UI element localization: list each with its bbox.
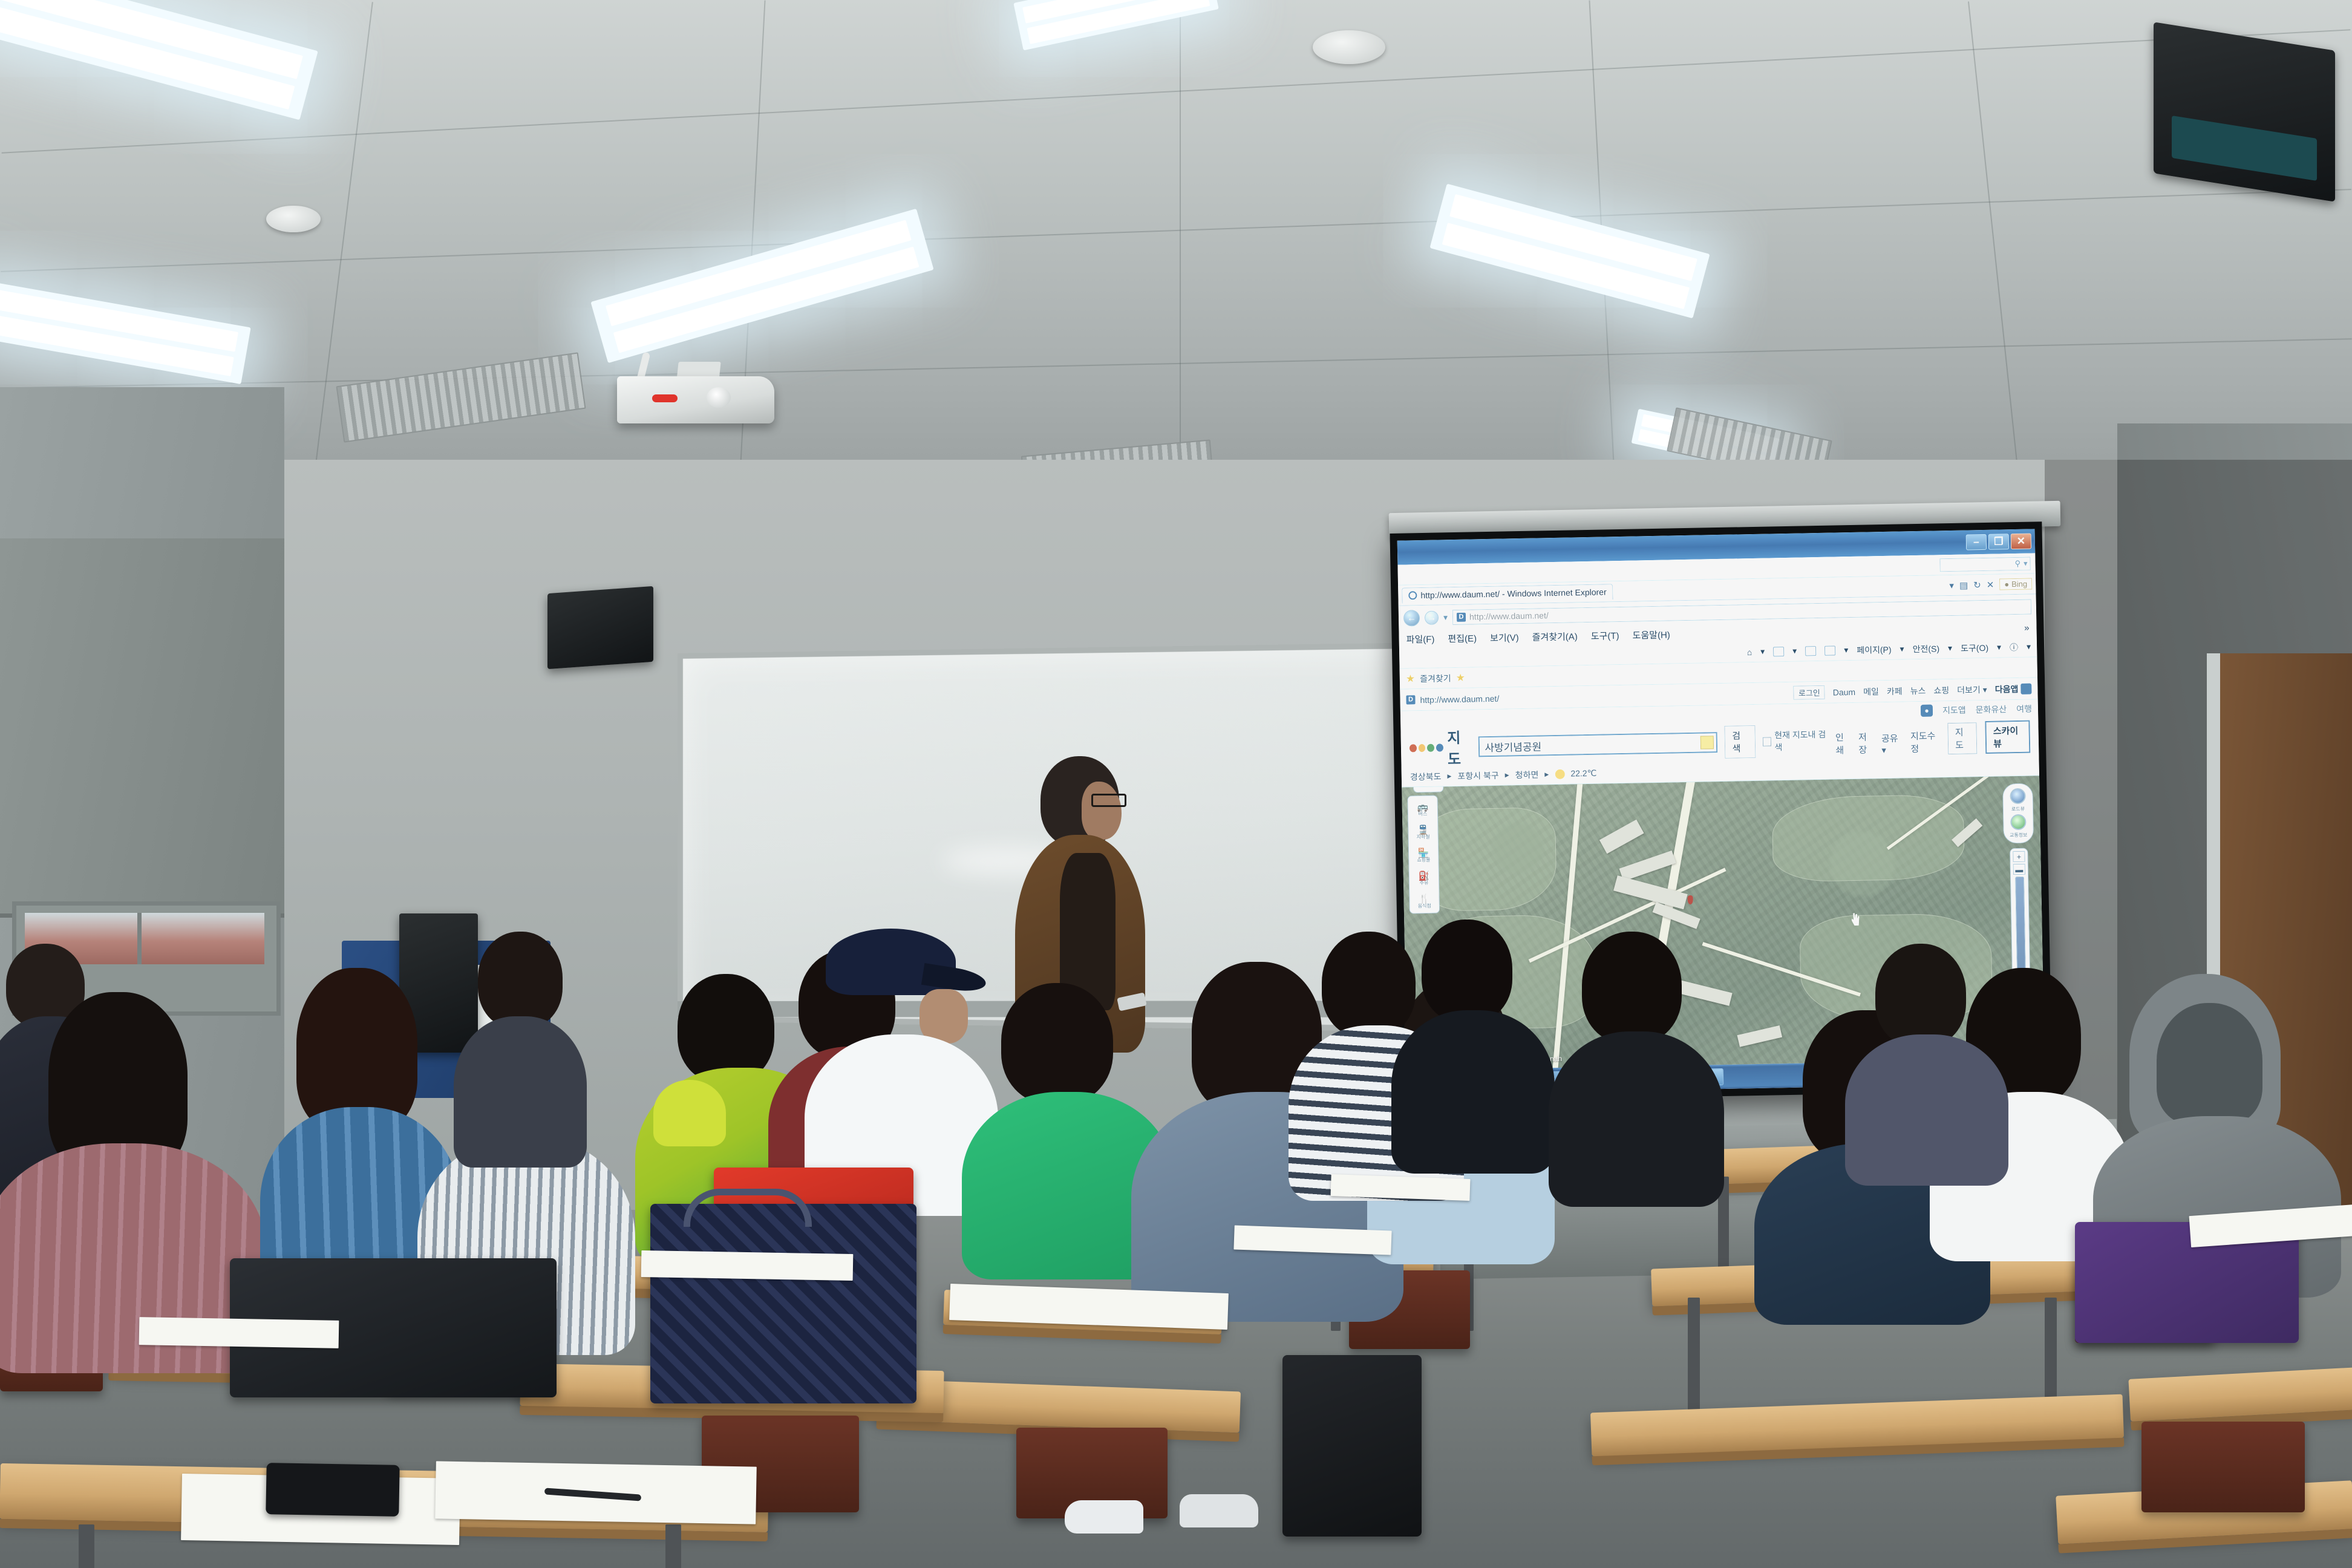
feeds-icon[interactable] [1773, 647, 1784, 656]
category-fuel[interactable]: ⛽ 주유 [1416, 869, 1433, 887]
map-view-tab[interactable]: 지도 [1948, 722, 1978, 754]
breadcrumb-city[interactable]: 포항시 북구 [1457, 769, 1499, 782]
daum-app-label: 다음앱 [1995, 682, 2019, 695]
roadview-icon [2010, 788, 2025, 804]
traffic-icon [2010, 814, 2026, 830]
browser-tab-label: http://www.daum.net/ - Windows Internet … [1420, 587, 1607, 600]
map-app-icon[interactable]: ● [1921, 705, 1933, 717]
classroom-scene: – ❐ ✕ ⚲ ▾ http://www.daum.net/ - Windows… [0, 0, 2352, 1568]
category-mart[interactable]: 🏪 쇼핑몰 [1415, 846, 1432, 864]
map-category-sidebar: 🚌 버스 🚆 지하철 🏪 쇼핑몰 ⛽ 주유 [1407, 795, 1440, 914]
student [1845, 944, 2002, 1174]
minimize-button[interactable]: – [1966, 534, 1987, 550]
search-in-view-checkbox[interactable]: 현재 지도내 검색 [1762, 728, 1828, 754]
student [448, 932, 587, 1161]
browser-tab[interactable]: http://www.daum.net/ - Windows Internet … [1402, 584, 1613, 603]
add-favorite-icon[interactable]: ★ [1455, 671, 1465, 684]
chevron-down-icon[interactable]: ▾ [1792, 646, 1797, 656]
qr-icon [2020, 683, 2031, 694]
bing-icon: ● [2004, 580, 2009, 589]
student [1391, 920, 1549, 1161]
menu-help[interactable]: 도움말(H) [1632, 628, 1670, 641]
feeds-icon[interactable]: ▤ [1959, 580, 1968, 590]
paper-sheet [641, 1250, 854, 1281]
shoe [1065, 1500, 1143, 1534]
daum-favicon-icon: D [1406, 695, 1415, 704]
map-search-value: 사방기념공원 [1485, 738, 1541, 754]
keyboard-icon[interactable] [1700, 736, 1713, 749]
pencil-pouch [266, 1463, 399, 1517]
tote-handle [684, 1189, 812, 1227]
close-button[interactable]: ✕ [2011, 534, 2031, 550]
menu-overflow-icon[interactable]: » [2024, 622, 2030, 633]
daum-map-logo[interactable]: 지도 [1409, 726, 1472, 769]
student [1549, 932, 1718, 1192]
category-train-label: 지하철 [1415, 834, 1432, 841]
print-icon[interactable] [1824, 645, 1835, 655]
cmd-page[interactable]: 페이지(P) [1857, 643, 1892, 656]
map-logo-label: 지도 [1447, 726, 1472, 769]
skyview-tab[interactable]: 스카이뷰 [1985, 720, 2030, 754]
bing-label: Bing [2011, 580, 2027, 589]
category-bus[interactable]: 🚌 버스 [1414, 800, 1432, 818]
mail-icon[interactable] [1805, 646, 1816, 656]
chevron-down-icon[interactable]: ▾ [1997, 642, 2001, 652]
address-url: http://www.daum.net/ [1469, 610, 1549, 621]
breadcrumb-province[interactable]: 경상북도 [1410, 770, 1442, 783]
nav-cafe[interactable]: 카페 [1887, 685, 1903, 697]
glasses-icon [1091, 794, 1126, 807]
menu-tools[interactable]: 도구(T) [1591, 629, 1619, 642]
search-icon: ⚲ [2014, 558, 2020, 568]
map-search-button[interactable]: 검색 [1724, 725, 1756, 759]
category-mart-label: 쇼핑몰 [1415, 857, 1432, 864]
checkbox-icon[interactable] [1762, 737, 1771, 746]
chevron-down-icon[interactable]: ▾ [2024, 558, 2028, 568]
nav-daum[interactable]: Daum [1833, 687, 1856, 697]
nav-news[interactable]: 뉴스 [1910, 684, 1926, 696]
help-icon[interactable]: ⓘ [2010, 641, 2018, 653]
sub-mapapp[interactable]: 지도앱 [1942, 704, 1966, 717]
sun-weather-icon [1555, 769, 1564, 779]
map-share-button[interactable]: 공유 ▾ [1881, 732, 1903, 756]
roadview-control[interactable]: 로드뷰 교통정보 [2002, 783, 2034, 844]
nav-shopping[interactable]: 쇼핑 [1933, 684, 1949, 696]
favorites-star-icon[interactable]: ★ [1406, 673, 1416, 685]
shoe [1180, 1494, 1258, 1527]
chevron-down-icon[interactable]: ▾ [1948, 643, 1952, 653]
category-restaurant-label: 음식점 [1416, 903, 1433, 910]
menu-view[interactable]: 보기(V) [1490, 631, 1519, 644]
ceiling-projector [605, 363, 786, 436]
black-bag [1282, 1355, 1422, 1537]
stop-icon[interactable]: ✕ [1987, 579, 1994, 590]
restore-button[interactable]: ❐ [1988, 534, 2009, 550]
map-search-input[interactable]: 사방기념공원 [1478, 732, 1717, 757]
map-save-button[interactable]: 저장 [1858, 730, 1873, 756]
cmd-safety[interactable]: 안전(S) [1912, 642, 1939, 655]
patterned-tote-bag [650, 1204, 916, 1403]
nav-more[interactable]: 더보기 ▾ [1957, 683, 1987, 696]
paper-sheet [139, 1317, 339, 1348]
cmd-tools[interactable]: 도구(O) [1961, 641, 1988, 654]
map-building [1619, 851, 1676, 881]
roadview-label: 로드뷰 [2011, 806, 2025, 812]
chevron-down-icon[interactable]: ▾ [1443, 612, 1448, 622]
nav-mail[interactable]: 메일 [1863, 685, 1879, 697]
category-train[interactable]: 🚆 지하철 [1414, 823, 1432, 841]
temperature-label: 22.2℃ [1570, 768, 1596, 779]
map-location-marker[interactable] [1688, 895, 1693, 904]
category-restaurant[interactable]: 🍴 음식점 [1416, 892, 1433, 910]
chevron-down-icon[interactable]: ▾ [1760, 647, 1765, 657]
sub-heritage[interactable]: 문화유산 [1975, 703, 2007, 716]
refresh-icon[interactable]: ↻ [1973, 580, 1981, 590]
ie-favicon-icon [1408, 591, 1417, 599]
zoom-in-button[interactable]: + [2013, 851, 2025, 862]
chevron-right-icon: ▸ [1544, 769, 1549, 779]
back-button[interactable]: ← [1403, 610, 1420, 626]
window-roller-blind[interactable] [0, 538, 284, 918]
login-button[interactable]: 로그인 [1794, 685, 1825, 700]
map-print-button[interactable]: 인쇄 [1835, 731, 1851, 756]
home-icon[interactable]: ⌂ [1747, 647, 1753, 657]
bing-search-box[interactable]: ● Bing [1999, 578, 2032, 590]
search-in-view-label: 현재 지도내 검색 [1774, 728, 1828, 754]
traffic-label: 교통정보 [2010, 832, 2028, 839]
breadcrumb-town[interactable]: 청하면 [1515, 768, 1539, 781]
zoom-handle[interactable]: ▬ [2013, 864, 2025, 875]
chevron-right-icon: ▸ [1505, 769, 1509, 780]
corner-speaker-right [2154, 22, 2335, 202]
favorites-label[interactable]: 즐겨찾기 [1420, 672, 1451, 685]
menu-edit[interactable]: 편집(E) [1448, 632, 1477, 645]
forward-button[interactable]: → [1425, 610, 1439, 624]
chevron-down-icon[interactable]: ▾ [1949, 580, 1954, 590]
chevron-down-icon[interactable]: ▾ [1900, 644, 1904, 654]
ie-search-input[interactable]: ⚲ ▾ [1939, 557, 2030, 572]
daum-favicon-icon: D [1457, 612, 1466, 621]
map-building [1599, 820, 1644, 854]
chair [2141, 1422, 2305, 1512]
plaid-pink-shirt-student [0, 992, 254, 1355]
sub-travel[interactable]: 여행 [2016, 703, 2032, 715]
daum-url-label: http://www.daum.net/ [1420, 693, 1499, 704]
map-edit-button[interactable]: 지도수정 [1910, 729, 1940, 755]
smoke-detector-icon [1313, 30, 1385, 64]
chevron-down-icon[interactable]: ▾ [1844, 645, 1848, 655]
menu-favorites[interactable]: 즐겨찾기(A) [1532, 630, 1578, 643]
daum-app-link[interactable]: 다음앱 [1995, 682, 2032, 695]
wall-speaker-front [547, 586, 653, 669]
chevron-down-icon[interactable]: ▾ [2027, 642, 2031, 652]
smoke-detector-icon [266, 206, 321, 232]
menu-file[interactable]: 파일(F) [1406, 632, 1434, 645]
chevron-right-icon: ▸ [1447, 771, 1451, 781]
